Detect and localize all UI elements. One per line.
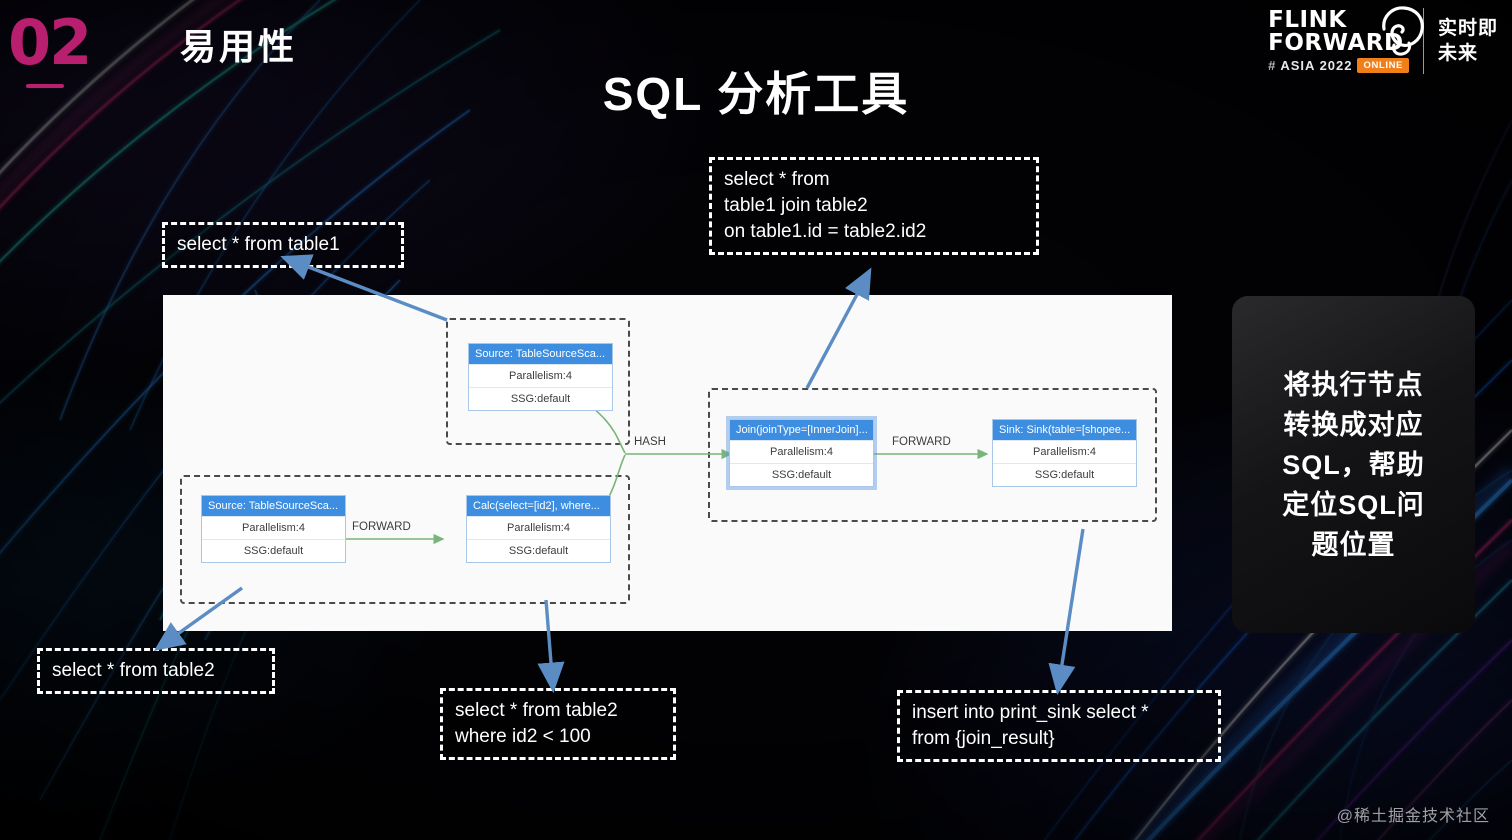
node-source1-parallelism: Parallelism:4 bbox=[469, 364, 612, 387]
slide-root: 02 易用性 FLINK FORWARD # ASIA 2022 ONLINE … bbox=[0, 0, 1512, 840]
note-insert-print-sink: insert into print_sink select * from {jo… bbox=[897, 690, 1221, 762]
node-source1-header: Source: TableSourceSca... bbox=[469, 344, 612, 364]
execution-plan-canvas[interactable]: Source: TableSourceSca... Parallelism:4 … bbox=[163, 295, 1172, 631]
node-calc-ssg: SSG:default bbox=[467, 539, 610, 562]
note-select-table2: select * from table2 bbox=[37, 648, 275, 694]
edge-label-hash: HASH bbox=[634, 436, 666, 448]
node-sink-header: Sink: Sink(table=[shopee... bbox=[993, 420, 1136, 440]
side-callout-text: 将执行节点 转换成对应 SQL，帮助 定位SQL问 题位置 bbox=[1282, 365, 1425, 565]
node-source2-parallelism: Parallelism:4 bbox=[202, 516, 345, 539]
edge-label-forward-1: FORWARD bbox=[352, 521, 411, 533]
node-sink-parallelism: Parallelism:4 bbox=[993, 440, 1136, 463]
note-select-table1: select * from table1 bbox=[162, 222, 404, 268]
node-calc-parallelism: Parallelism:4 bbox=[467, 516, 610, 539]
node-calc-header: Calc(select=[id2], where... bbox=[467, 496, 610, 516]
node-sink-ssg: SSG:default bbox=[993, 463, 1136, 486]
node-join-header: Join(joinType=[InnerJoin]... bbox=[730, 420, 873, 440]
node-join-parallelism: Parallelism:4 bbox=[730, 440, 873, 463]
node-join-ssg: SSG:default bbox=[730, 463, 873, 486]
node-source2-ssg: SSG:default bbox=[202, 539, 345, 562]
squirrel-icon bbox=[1372, 5, 1428, 57]
node-calc[interactable]: Calc(select=[id2], where... Parallelism:… bbox=[466, 495, 611, 563]
note-select-join: select * from table1 join table2 on tabl… bbox=[709, 157, 1039, 255]
node-sink[interactable]: Sink: Sink(table=[shopee... Parallelism:… bbox=[992, 419, 1137, 487]
node-source2-header: Source: TableSourceSca... bbox=[202, 496, 345, 516]
node-source2[interactable]: Source: TableSourceSca... Parallelism:4 … bbox=[201, 495, 346, 563]
watermark: @稀土掘金技术社区 bbox=[1337, 802, 1490, 826]
logo-cn-line1: 实时即 bbox=[1438, 16, 1498, 41]
note-select-table2-where: select * from table2 where id2 < 100 bbox=[440, 688, 676, 760]
node-join[interactable]: Join(joinType=[InnerJoin]... Parallelism… bbox=[729, 419, 874, 487]
edge-label-forward-2: FORWARD bbox=[892, 436, 951, 448]
side-callout-panel: 将执行节点 转换成对应 SQL，帮助 定位SQL问 题位置 bbox=[1232, 296, 1475, 633]
node-source1[interactable]: Source: TableSourceSca... Parallelism:4 … bbox=[468, 343, 613, 411]
page-title: SQL 分析工具 bbox=[0, 58, 1512, 124]
node-source1-ssg: SSG:default bbox=[469, 387, 612, 410]
